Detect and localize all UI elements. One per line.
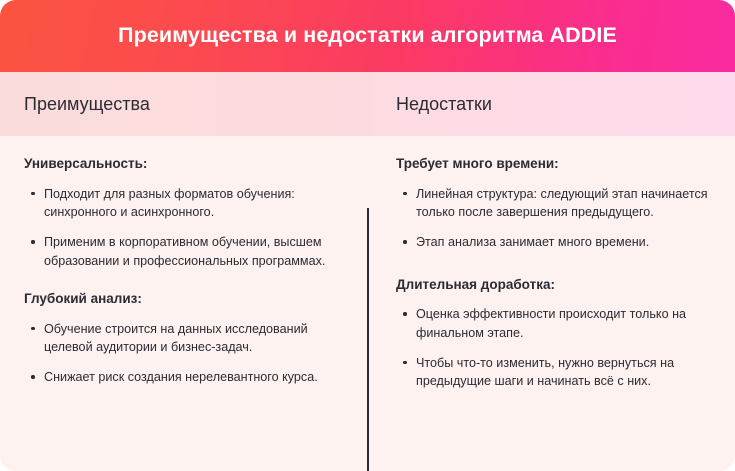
list-item: Оценка эффективности происходит только н… xyxy=(396,305,717,342)
list-item-text: Чтобы что-то изменить, нужно вернуться н… xyxy=(416,354,717,391)
bullet-dot-icon xyxy=(403,192,407,196)
comparison-card: Преимущества и недостатки алгоритма ADDI… xyxy=(0,0,735,471)
column-body-cons: Требует много времени: Линейная структур… xyxy=(368,136,735,471)
columns-body: Универсальность: Подходит для разных фор… xyxy=(0,136,735,471)
cons-group-2-title: Длительная доработка: xyxy=(396,276,717,294)
bullet-dot-icon xyxy=(31,327,35,331)
cons-group-1-title: Требует много времени: xyxy=(396,155,717,173)
bullet-dot-icon xyxy=(403,312,407,316)
list-item-text: Применим в корпоративном обучении, высше… xyxy=(44,233,350,270)
list-item: Снижает риск создания нерелевантного кур… xyxy=(24,368,350,386)
column-header-pros-label: Преимущества xyxy=(24,95,150,113)
list-item-text: Линейная структура: следующий этап начин… xyxy=(416,185,717,222)
column-headers-row: Преимущества Недостатки xyxy=(0,72,735,136)
cons-group-2: Длительная доработка: Оценка эффективнос… xyxy=(396,276,717,391)
list-item-text: Снижает риск создания нерелевантного кур… xyxy=(44,368,350,386)
pros-group-1-title: Универсальность: xyxy=(24,155,350,173)
pros-group-2: Глубокий анализ: Обучение строится на да… xyxy=(24,290,350,387)
card-title-bar: Преимущества и недостатки алгоритма ADDI… xyxy=(0,0,735,72)
pros-group-2-list: Обучение строится на данных исследований… xyxy=(24,320,350,387)
bullet-dot-icon xyxy=(31,192,35,196)
card-title: Преимущества и недостатки алгоритма ADDI… xyxy=(118,25,617,47)
cons-group-1-list: Линейная структура: следующий этап начин… xyxy=(396,185,717,252)
bullet-dot-icon xyxy=(403,240,407,244)
column-header-cons: Недостатки xyxy=(368,72,735,136)
bullet-dot-icon xyxy=(31,375,35,379)
column-divider xyxy=(367,208,369,471)
list-item-text: Обучение строится на данных исследований… xyxy=(44,320,350,357)
list-item: Линейная структура: следующий этап начин… xyxy=(396,185,717,222)
column-header-cons-label: Недостатки xyxy=(396,95,492,113)
bullet-dot-icon xyxy=(31,240,35,244)
list-item: Чтобы что-то изменить, нужно вернуться н… xyxy=(396,354,717,391)
list-item: Этап анализа занимает много времени. xyxy=(396,233,717,251)
column-header-pros: Преимущества xyxy=(0,72,368,136)
pros-group-2-title: Глубокий анализ: xyxy=(24,290,350,308)
list-item-text: Подходит для разных форматов обучения: с… xyxy=(44,185,350,222)
list-item-text: Оценка эффективности происходит только н… xyxy=(416,305,717,342)
cons-group-2-list: Оценка эффективности происходит только н… xyxy=(396,305,717,391)
list-item-text: Этап анализа занимает много времени. xyxy=(416,233,717,251)
bullet-dot-icon xyxy=(403,361,407,365)
pros-group-1: Универсальность: Подходит для разных фор… xyxy=(24,155,350,270)
list-item: Подходит для разных форматов обучения: с… xyxy=(24,185,350,222)
list-item: Обучение строится на данных исследований… xyxy=(24,320,350,357)
cons-group-1: Требует много времени: Линейная структур… xyxy=(396,155,717,252)
list-item: Применим в корпоративном обучении, высше… xyxy=(24,233,350,270)
column-body-pros: Универсальность: Подходит для разных фор… xyxy=(0,136,368,471)
pros-group-1-list: Подходит для разных форматов обучения: с… xyxy=(24,185,350,271)
